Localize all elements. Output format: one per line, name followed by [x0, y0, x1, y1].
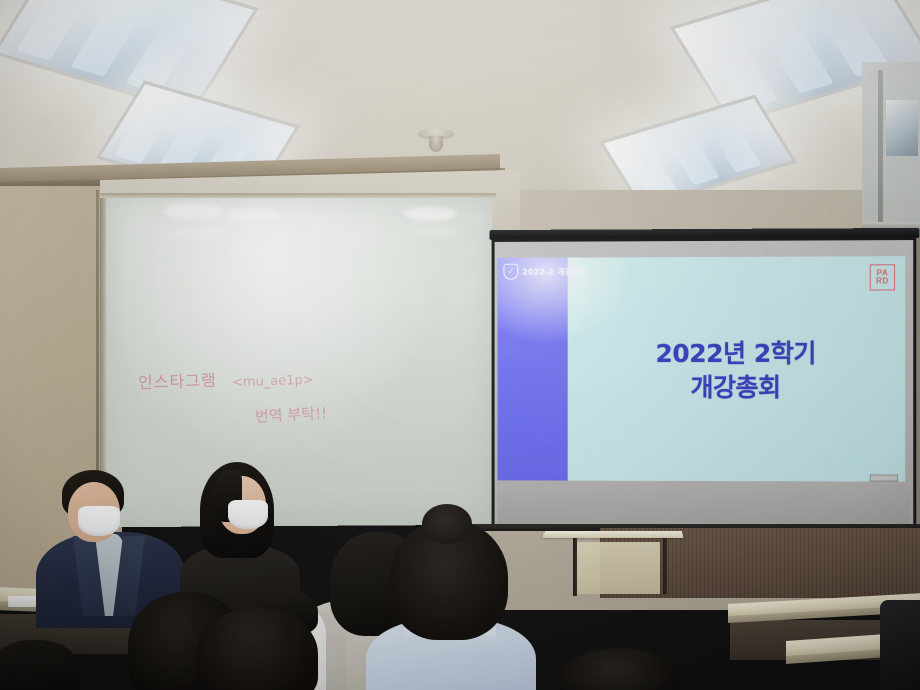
presentation-slide: ✓ 2022-2 개강총회 PA RD 2022년 2학기 개강총회	[498, 256, 906, 481]
whiteboard-frame-top	[100, 193, 496, 198]
slide-title-line-1: 2022년 2학기	[568, 337, 905, 371]
whiteboard-handwriting-line-3: 번역 부탁!!	[254, 402, 327, 427]
face-mask	[78, 506, 120, 536]
hair	[560, 648, 680, 690]
folding-table-apron	[575, 542, 660, 594]
sprinkler-head-icon	[418, 128, 454, 140]
person-audience-bun-hair	[380, 520, 520, 690]
projection-screen: ✓ 2022-2 개강총회 PA RD 2022년 2학기 개강총회	[492, 237, 917, 531]
chair-right	[880, 600, 920, 690]
hair-bun	[422, 504, 472, 544]
slide-title-line-2: 개강총회	[568, 371, 905, 405]
slide-title: 2022년 2학기 개강총회	[568, 337, 905, 405]
folding-table-top-edge	[545, 531, 682, 538]
lecture-hall-photo: 인스타그램 <mu_ae1p> 번역 부탁!! ✓ 2022-2 개강총회 PA…	[0, 0, 920, 690]
folding-table-leg-left	[573, 538, 577, 596]
folding-table-leg-right	[663, 538, 667, 594]
hair	[0, 640, 80, 690]
glass-partition-mullion	[878, 70, 883, 230]
person-woman-with-long-hair	[188, 462, 298, 612]
slide-header: ✓ 2022-2 개강총회	[503, 263, 587, 279]
face-mask	[228, 500, 268, 529]
whiteboard-handwriting-line-1: 인스타그램	[138, 367, 217, 394]
pard-brand-logo: PA RD	[870, 264, 895, 290]
projection-screen-surface: ✓ 2022-2 개강총회 PA RD 2022년 2학기 개강총회	[495, 240, 914, 528]
hair	[196, 608, 318, 690]
slide-header-text: 2022-2 개강총회	[522, 266, 587, 277]
pard-logo-bottom: RD	[876, 277, 889, 285]
whiteboard-handwriting-line-2: <mu_ae1p>	[232, 373, 314, 391]
person-audience-head-2	[196, 608, 318, 690]
projection-screen-blank-area	[498, 480, 911, 528]
person-audience-head-far-left	[0, 640, 80, 690]
glass-partition-pane	[886, 100, 918, 156]
projection-screen-pull-tab	[870, 474, 898, 481]
person-audience-head-bottom-right	[560, 648, 680, 690]
slide-side-band	[498, 258, 568, 481]
shield-check-icon: ✓	[503, 264, 518, 280]
